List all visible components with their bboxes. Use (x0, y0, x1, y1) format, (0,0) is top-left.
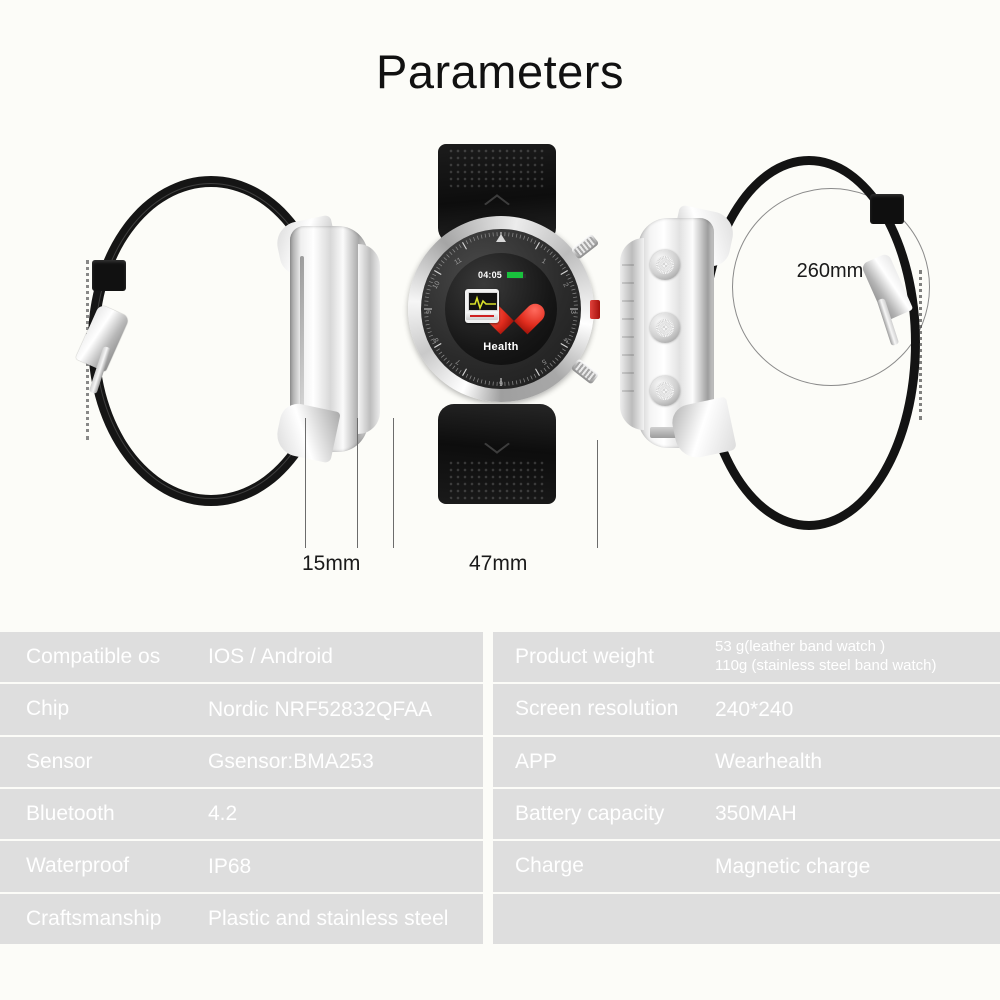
product-parameters-page: Parameters (0, 0, 1000, 1000)
band-keeper-loop (92, 260, 126, 291)
ecg-screen (468, 292, 498, 311)
spec-value: IP68 (208, 855, 251, 879)
svg-text:3: 3 (569, 310, 576, 314)
svg-text:8: 8 (433, 336, 441, 343)
watch-case-front: 1 2 3 4 5 6 7 8 9 10 11 (408, 216, 594, 402)
steel-watch-case (620, 218, 730, 448)
svg-text:7: 7 (455, 357, 462, 365)
case-rim (358, 244, 380, 434)
svg-text:6: 6 (499, 379, 503, 386)
table-row: Waterproof IP68 (0, 841, 483, 891)
red-crown-button[interactable] (590, 300, 600, 319)
table-row: Battery capacity 350MAH (493, 789, 1000, 839)
spec-value-line-2: 110g (stainless steel band watch) (715, 657, 937, 676)
watch-time: 04:05 (478, 270, 502, 280)
bluetooth-icon (456, 254, 463, 264)
spec-key: Sensor (0, 750, 208, 774)
side-button-bottom[interactable] (650, 376, 680, 406)
watch-app-label: Health (445, 341, 557, 353)
chevron-up-icon (484, 194, 510, 213)
spec-value-line-1: 53 g(leather band watch ) (715, 638, 937, 657)
side-button-middle[interactable] (650, 313, 680, 343)
spec-key: Compatible os (0, 645, 208, 669)
spec-key: Craftsmanship (0, 907, 208, 931)
table-row: APP Wearhealth (493, 737, 1000, 787)
case-engraving (622, 264, 634, 394)
spec-key: APP (493, 750, 715, 774)
table-row-empty (493, 894, 1000, 944)
battery-icon (506, 271, 524, 279)
spec-key: Screen resolution (493, 697, 715, 721)
front-face-view: 1 2 3 4 5 6 7 8 9 10 11 (400, 144, 620, 504)
table-row: Product weight 53 g(leather band watch )… (493, 632, 1000, 682)
case-groove (300, 256, 304, 424)
ecg-monitor-icon (465, 289, 499, 323)
svg-text:5: 5 (540, 357, 547, 365)
leader-line-1 (305, 418, 306, 548)
spec-value: Wearhealth (715, 750, 822, 774)
spec-value-group: 53 g(leather band watch ) 110g (stainles… (715, 638, 937, 676)
spec-value: Gsensor:BMA253 (208, 750, 374, 774)
svg-text:10: 10 (432, 280, 442, 290)
leather-band-side-view (78, 168, 378, 518)
leader-line-3 (393, 418, 394, 548)
svg-text:9: 9 (426, 310, 433, 314)
table-row: Screen resolution 240*240 (493, 684, 1000, 734)
table-row: Charge Magnetic charge (493, 841, 1000, 891)
steel-band-keeper (870, 194, 904, 224)
table-row: Compatible os IOS / Android (0, 632, 483, 682)
side-button-top[interactable] (650, 250, 680, 280)
specification-tables: Compatible os IOS / Android Chip Nordic … (0, 632, 1000, 944)
table-row: Craftsmanship Plastic and stainless stee… (0, 894, 483, 944)
spec-value: 240*240 (715, 698, 793, 722)
spec-value: 350MAH (715, 802, 797, 826)
ecg-waveform-icon (469, 293, 497, 310)
spec-table-right: Product weight 53 g(leather band watch )… (493, 632, 1000, 944)
spec-value: Plastic and stainless steel (208, 907, 448, 931)
spec-key: Charge (493, 854, 715, 878)
spec-key: Battery capacity (493, 802, 715, 826)
leader-line-4 (597, 440, 598, 548)
watch-case-side (278, 226, 378, 452)
spec-key: Waterproof (0, 854, 208, 878)
spec-value: 4.2 (208, 802, 237, 826)
dimension-label-47mm: 47mm (469, 552, 527, 576)
heart-graphic (495, 291, 533, 325)
dimension-label-15mm: 15mm (302, 552, 360, 576)
ecg-base (466, 312, 498, 320)
spec-key: Chip (0, 697, 208, 721)
spec-value: Magnetic charge (715, 855, 870, 879)
spec-value: IOS / Android (208, 645, 333, 669)
watch-dial-screen[interactable]: 04:05 Health (445, 253, 557, 365)
watch-bezel: 1 2 3 4 5 6 7 8 9 10 11 (421, 229, 581, 389)
spec-key: Bluetooth (0, 802, 208, 826)
spec-value: Nordic NRF52832QFAA (208, 698, 432, 722)
table-row: Chip Nordic NRF52832QFAA (0, 684, 483, 734)
leader-line-2 (357, 418, 358, 548)
spec-table-left: Compatible os IOS / Android Chip Nordic … (0, 632, 483, 944)
silicone-strap-bottom (438, 404, 556, 504)
table-row: Sensor Gsensor:BMA253 (0, 737, 483, 787)
watch-status-bar: 04:05 (445, 269, 557, 281)
svg-text:4: 4 (561, 336, 569, 343)
spec-key: Product weight (493, 645, 715, 669)
svg-text:1: 1 (540, 258, 547, 266)
page-title: Parameters (0, 44, 1000, 99)
product-images-area: 1 2 3 4 5 6 7 8 9 10 11 (0, 130, 1000, 600)
steel-band-side-view: 260mm (620, 160, 940, 540)
chevron-down-icon (484, 434, 510, 453)
table-row: Bluetooth 4.2 (0, 789, 483, 839)
svg-text:2: 2 (561, 282, 569, 289)
